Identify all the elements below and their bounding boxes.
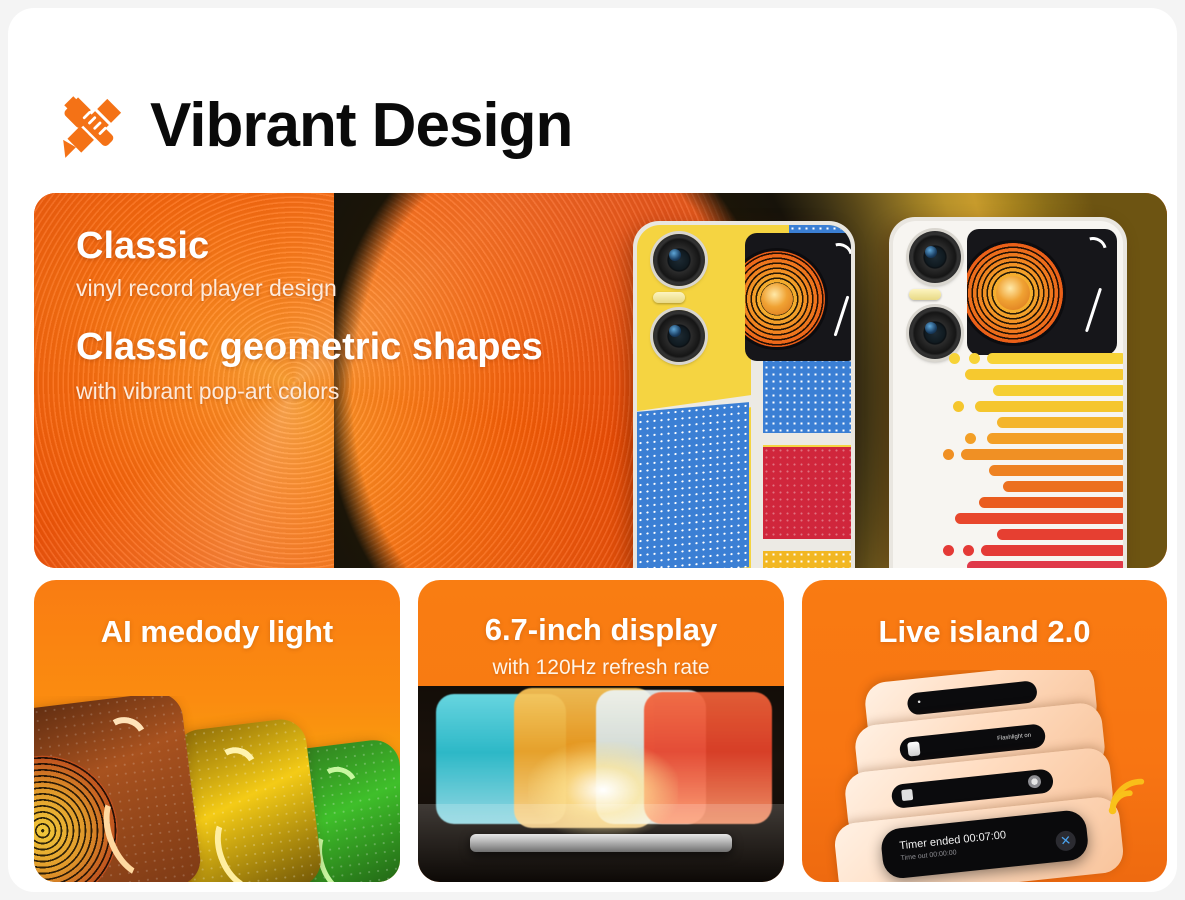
page-root: Vibrant Design Classic vinyl record play… [0, 0, 1185, 900]
pop-separator-v [751, 345, 763, 568]
content-sheet: Vibrant Design Classic vinyl record play… [8, 8, 1177, 892]
melody-phone-orange [34, 696, 203, 882]
eq-bar [993, 385, 1123, 396]
pop-separator-h2 [751, 539, 851, 551]
eq-bar [955, 513, 1123, 524]
tonearm-bar [1085, 288, 1102, 333]
eq-bar [967, 561, 1123, 568]
pop-art-phone-back [637, 225, 851, 568]
display-card[interactable]: 6.7-inch display with 120Hz refresh rate [418, 580, 784, 882]
eq-dot [963, 545, 974, 556]
camera-lens-bottom [653, 310, 705, 362]
eq-bar [1003, 481, 1123, 492]
hero-text-block: Classic vinyl record player design Class… [76, 225, 543, 406]
eq-dot [943, 449, 954, 460]
eq-bar [987, 353, 1123, 364]
ai-melody-light-card[interactable]: AI medody light [34, 580, 400, 882]
eq-bar [987, 433, 1123, 444]
hero-headline-1: Classic [76, 225, 543, 269]
lens-glint [925, 322, 937, 334]
island-pill-1-label: ● [917, 699, 921, 705]
hero-subtext-1: vinyl record player design [76, 275, 543, 303]
hero-headline-2: Classic geometric shapes [76, 326, 543, 370]
tonearm-arc-outer [820, 238, 851, 276]
pop-separator-h [751, 433, 851, 445]
camera-lens-top [909, 231, 961, 283]
eq-bar [981, 545, 1123, 556]
equalizer-pattern [893, 351, 1123, 568]
thumbs-up-icon [901, 789, 913, 801]
white-equalizer-phone[interactable] [889, 217, 1127, 568]
display-title: 6.7-inch display [418, 612, 784, 648]
broadcast-signal-icon [1103, 774, 1149, 820]
page-title: Vibrant Design [150, 95, 572, 157]
lens-glint [669, 325, 681, 337]
pop-panel-yellow-br [763, 551, 851, 568]
eq-bar [997, 417, 1123, 428]
pop-panel-blue-left [637, 402, 749, 568]
eq-dot [969, 353, 980, 364]
classic-design-card[interactable]: Classic vinyl record player design Class… [34, 193, 1167, 568]
camera-lens-top [653, 234, 705, 286]
melody-phones-image [34, 696, 400, 882]
flashlight-pill-label: Flashlight on [997, 733, 1031, 743]
eq-bar [961, 449, 1123, 460]
eq-dot [965, 433, 976, 444]
page-header: Vibrant Design [60, 80, 572, 172]
pop-panel-blue-right [763, 357, 851, 435]
camera-island [647, 234, 739, 366]
turntable-module [745, 233, 851, 361]
ai-melody-light-title: AI medody light [34, 614, 400, 650]
gear-icon [1027, 774, 1041, 788]
eq-bar [979, 497, 1123, 508]
eq-dot [953, 401, 964, 412]
live-island-visual: ● Flashlight on [802, 670, 1167, 882]
eq-dot [943, 545, 954, 556]
timer-notification[interactable]: Timer ended 00:07:00 Time out 00:00:00 ✕ [880, 809, 1090, 880]
camera-flash [909, 289, 941, 300]
ruler-pencil-icon [60, 92, 128, 160]
camera-flash [653, 292, 685, 303]
eq-dot [949, 353, 960, 364]
close-icon[interactable]: ✕ [1055, 830, 1077, 852]
pop-art-phone[interactable] [633, 221, 855, 568]
eq-bar [965, 369, 1123, 380]
hero-phone-group [607, 193, 1167, 568]
turntable-label [996, 276, 1030, 310]
flashlight-icon [907, 741, 920, 756]
pop-panel-red [763, 447, 851, 539]
lens-glint [925, 246, 937, 258]
display-subtitle: with 120Hz refresh rate [418, 656, 784, 680]
tonearm-arc-outer [1074, 232, 1112, 270]
hero-subtext-2: with vibrant pop-art colors [76, 378, 543, 406]
display-device-edge[interactable] [470, 834, 732, 852]
live-island-title: Live island 2.0 [802, 614, 1167, 650]
eq-bar [975, 401, 1123, 412]
white-phone-back [893, 221, 1123, 568]
live-island-card[interactable]: Live island 2.0 ● Flashlight on [802, 580, 1167, 882]
lens-glint [669, 249, 681, 261]
eq-bar [997, 529, 1123, 540]
turntable-label [761, 283, 793, 315]
eq-bar [989, 465, 1123, 476]
feature-card-row: AI medody light [34, 580, 1167, 882]
display-visual [418, 686, 784, 882]
tonearm-bar [834, 296, 850, 337]
camera-island [905, 231, 997, 363]
island-pill-3[interactable] [891, 768, 1055, 809]
